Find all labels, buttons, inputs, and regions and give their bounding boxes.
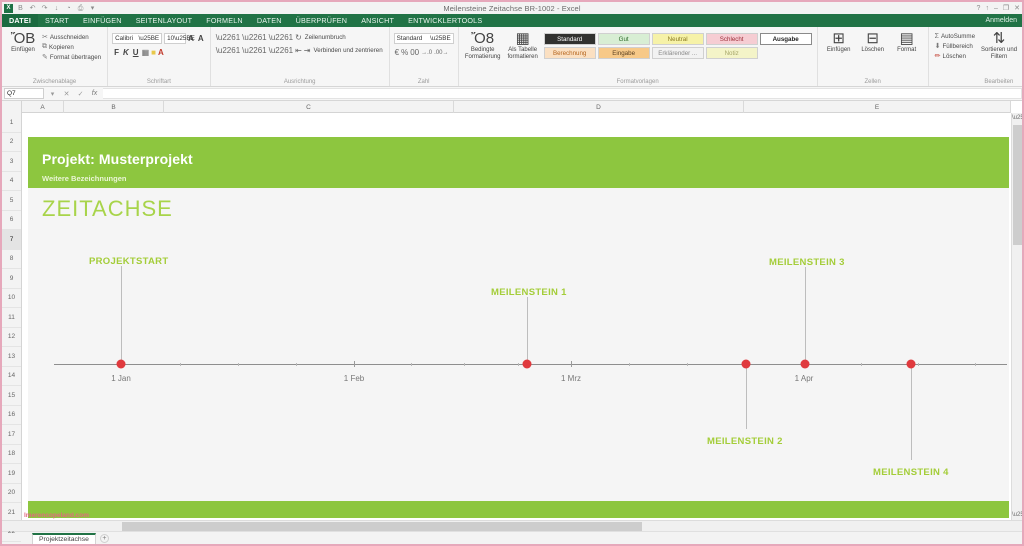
formula-bar: Q7 ▾ ✕ ✓ fx [2,87,1022,101]
row-header-11[interactable]: 11 [2,308,21,328]
milestone-stem [746,365,747,429]
scroll-up-icon[interactable]: \u25B2 [1012,113,1023,123]
close-icon[interactable]: ✕ [1014,4,1020,12]
axis-tick-minor [411,363,412,366]
worksheet-canvas[interactable]: Projekt: Musterprojekt Weitere Bezeichnu… [22,113,1011,520]
window-controls[interactable]: ? ↑ – ❐ ✕ [977,2,1020,14]
axis-label-feb: 1 Feb [344,374,364,383]
axis-tick-major [571,361,572,367]
add-sheet-button[interactable]: + [100,534,109,543]
vertical-scrollbar[interactable]: \u25B2 \u25BC [1011,113,1022,520]
comma-style-icon[interactable]: 00 [409,48,420,57]
font-group-title: Schriftart [108,79,210,85]
align-center-icon[interactable]: \u2261 [241,46,267,55]
insert-function-icon[interactable]: fx [89,90,100,97]
row-header-5[interactable]: 5 [2,191,21,211]
style-tile-gut[interactable]: Gut [598,33,650,45]
axis-tick-minor [975,363,976,366]
milestone-label-projektstart: PROJEKTSTART [89,256,168,267]
align-bottom-icon[interactable]: \u2261 [268,33,294,42]
format-painter-button[interactable]: ✎ Format übertragen [40,52,103,62]
paintbrush-icon: ✎ [42,53,48,61]
orientation-icon[interactable]: ↻ [294,33,303,42]
milestone-marker[interactable] [117,360,126,369]
ribbon-options-icon[interactable]: ↑ [985,5,989,12]
table-icon: ▦ [516,31,530,47]
number-group-title: Zahl [390,79,458,85]
ribbon-group-clipboard: ὌB Einfügen ✂ Ausschneiden ⧉ Kopieren ✎ … [2,27,108,86]
ribbon: ὌB Einfügen ✂ Ausschneiden ⧉ Kopieren ✎ … [2,27,1022,87]
grid-area: A B C D E 1 2 3 4 5 6 7 8 9 10 11 12 13 … [2,101,1022,520]
cut-label: Ausschneiden [50,34,89,41]
ribbon-tab-bar[interactable]: DATEI START EINFÜGEN SEITENLAYOUT FORMEL… [2,14,1022,27]
number-format-select[interactable]: Standard \u25BE [394,33,454,44]
timeline-canvas: 1 Jan 1 Feb 1 Mrz 1 Apr 1 [28,226,1009,481]
milestone-label-2: MEILENSTEIN 2 [707,436,783,447]
cells-group-title: Zellen [818,79,928,85]
delete-cells-icon: ⊟ [866,31,879,47]
milestone-stem [527,297,528,364]
style-tile-notiz[interactable]: Notiz [706,47,758,59]
vertical-scroll-thumb[interactable] [1013,125,1022,245]
milestone-label-4: MEILENSTEIN 4 [873,467,949,478]
column-header-b[interactable]: B [64,101,164,113]
milestone-stem [805,267,806,364]
editing-group-title: Bearbeiten [929,79,1024,85]
axis-tick-minor [918,363,919,366]
row-header-4[interactable]: 4 [2,172,21,192]
timeline-footer-banner [28,501,1009,518]
format-as-table-label: Als Tabelle formatieren [503,47,543,61]
tabbar-spacer [489,14,985,27]
row-header-2[interactable]: 2 [2,133,21,153]
style-tile-berechnung[interactable]: Berechnung [544,47,596,59]
row-header-7[interactable]: 7 [2,230,21,250]
wrap-text-label: Zeilenumbruch [305,34,346,41]
watermark-text: lmerencopeland.com [24,512,89,519]
axis-label-apr: 1 Apr [795,374,814,383]
fill-label: Füllbereich [943,43,973,50]
font-size-value: 10 [167,35,174,42]
restore-icon[interactable]: ❐ [1003,4,1009,12]
increase-indent-icon[interactable]: ⇥ [303,46,312,55]
insert-cells-icon: ⊞ [832,31,845,47]
tab-formeln[interactable]: FORMELN [199,14,250,27]
cancel-entry-icon[interactable]: ✕ [61,90,72,98]
axis-tick-minor [296,363,297,366]
italic-button[interactable]: K [121,48,131,57]
chevron-down-icon[interactable]: \u25BE [430,35,451,42]
excel-window: X ὚B ↶ ↷ ↓ ◔ ⎙ ▾ Meilensteine Zeitachse … [0,0,1024,546]
align-middle-icon[interactable]: \u2261 [241,33,267,42]
delete-cells-button[interactable]: ⊟ Löschen [856,29,890,54]
format-cells-icon: ▤ [900,31,914,47]
column-header-c[interactable]: C [164,101,454,113]
horizontal-scroll-thumb[interactable] [122,522,642,531]
copy-label: Kopieren [49,44,74,51]
column-header-a[interactable]: A [22,101,64,113]
timeline-heading: ZEITACHSE [42,196,1009,222]
style-tile-schlecht[interactable]: Schlecht [706,33,758,45]
align-left-icon[interactable]: \u2261 [215,46,241,55]
axis-tick-minor [629,363,630,366]
ribbon-group-editing: Σ AutoSumme ⬇ Füllbereich ✏ Löschen ⇅ So… [929,27,1024,86]
sort-filter-button[interactable]: ⇅ Sortieren und Filtern [977,29,1021,61]
tab-ansicht[interactable]: ANSICHT [354,14,401,27]
row-header-14[interactable]: 14 [2,367,21,387]
axis-tick-minor [180,363,181,366]
insert-cells-button[interactable]: ⊞ Einfügen [822,29,856,54]
scroll-down-icon[interactable]: \u25BC [1012,510,1023,520]
row-header-3[interactable]: 3 [2,152,21,172]
clear-label: Löschen [943,53,966,60]
format-painter-label: Format übertragen [50,54,101,61]
number-format-value: Standard [397,35,423,42]
row-header-18[interactable]: 18 [2,445,21,465]
font-name-value: Calibri [115,35,133,42]
row-header-9[interactable]: 9 [2,269,21,289]
row-header-17[interactable]: 17 [2,425,21,445]
milestone-marker[interactable] [801,360,810,369]
axis-label-mrz: 1 Mrz [561,374,581,383]
axis-tick-minor [687,363,688,366]
row-header-16[interactable]: 16 [2,406,21,426]
bold-button[interactable]: F [112,48,121,57]
milestone-marker[interactable] [907,360,916,369]
paste-button[interactable]: ὌB Einfügen [6,29,40,54]
ribbon-group-styles: Ὄ8 Bedingte Formatierung ▦ Als Tabelle f… [459,27,818,86]
fill-color-icon[interactable]: ■ [150,48,157,57]
project-title: Projekt: Musterprojekt [42,151,995,167]
milestone-stem [121,266,122,364]
select-all-corner[interactable] [2,101,22,113]
font-size-input[interactable]: 10 \u25BE [164,33,186,44]
help-icon[interactable]: ? [977,5,981,12]
eraser-icon: ✏ [935,52,941,60]
column-header-d[interactable]: D [454,101,744,113]
sign-in-button[interactable]: Anmelden [985,14,1022,27]
ribbon-group-alignment: \u2261 \u2261 \u2261 ↻ Zeilenumbruch \u2… [211,27,390,86]
insert-cells-label: Einfügen [827,47,851,54]
chevron-down-icon[interactable]: \u25BE [138,35,159,42]
font-color-icon[interactable]: A [157,48,165,57]
milestone-stem [911,365,912,460]
decrease-indent-icon[interactable]: ⇤ [294,46,303,55]
ribbon-group-number: Standard \u25BE € % 00 →.0 .00→ Zahl [390,27,459,86]
copy-icon: ⧉ [42,43,47,51]
milestone-marker[interactable] [742,360,751,369]
paste-icon: ὌB [11,31,36,47]
clear-button[interactable]: ✏ Löschen [933,51,977,61]
axis-tick-minor [861,363,862,366]
title-bar: X ὚B ↶ ↷ ↓ ◔ ⎙ ▾ Meilensteine Zeitachse … [2,2,1022,14]
conditional-formatting-button[interactable]: Ὄ8 Bedingte Formatierung [463,29,503,61]
autosum-button[interactable]: Σ AutoSumme [933,32,977,41]
sigma-icon: Σ [935,33,939,40]
row-header-8[interactable]: 8 [2,250,21,270]
axis-tick-minor [518,363,519,366]
conditional-formatting-label: Bedingte Formatierung [463,47,503,61]
row-header-6[interactable]: 6 [2,211,21,231]
sheet-tab-bar[interactable]: Projektzeitachse + [2,531,1022,544]
fill-button[interactable]: ⬇ Füllbereich [933,41,977,51]
decrease-decimal-icon[interactable]: .00→ [433,50,449,56]
merge-center-label: Verbinden und zentrieren [314,47,383,54]
shrink-font-button[interactable]: A [196,34,206,43]
tab-entwicklertools[interactable]: ENTWICKLERTOOLS [401,14,489,27]
timeline-header-banner: Projekt: Musterprojekt Weitere Bezeichnu… [28,137,1009,188]
tab-ueberpruefen[interactable]: ÜBERPRÜFEN [289,14,355,27]
row-headers: 1 2 3 4 5 6 7 8 9 10 11 12 13 14 15 16 1… [2,113,22,520]
style-tile-standard[interactable]: Standard [544,33,596,45]
axis-tick-major [354,361,355,367]
font-name-input[interactable]: Calibri \u25BE [112,33,162,44]
clipboard-group-title: Zwischenablage [2,79,107,85]
sheet-tab-projektzeitachse[interactable]: Projektzeitachse [32,533,96,544]
ribbon-group-font: Calibri \u25BE 10 \u25BE A A F K U ▦ ■ [108,27,211,86]
tab-einfuegen[interactable]: EINFÜGEN [76,14,129,27]
format-as-table-button[interactable]: ▦ Als Tabelle formatieren [503,29,543,61]
row-header-10[interactable]: 10 [2,289,21,309]
milestone-label-1: MEILENSTEIN 1 [491,287,567,298]
sort-filter-label: Sortieren und Filtern [977,47,1021,61]
delete-cells-label: Löschen [861,47,884,54]
copy-button[interactable]: ⧉ Kopieren [40,42,103,52]
horizontal-scrollbar[interactable] [2,520,1022,531]
tab-seitenlayout[interactable]: SEITENLAYOUT [129,14,200,27]
autosum-label: AutoSumme [941,33,975,40]
style-tile-ausgabe[interactable]: Ausgabe [760,33,812,45]
styles-group-title: Formatvorlagen [459,79,817,85]
conditional-formatting-icon: Ὄ8 [471,31,494,47]
grow-font-button[interactable]: A [186,34,196,43]
axis-tick-minor [238,363,239,366]
row-header-13[interactable]: 13 [2,347,21,367]
row-header-19[interactable]: 19 [2,464,21,484]
ribbon-group-cells: ⊞ Einfügen ⊟ Löschen ▤ Format Zellen [818,27,929,86]
milestone-marker[interactable] [523,360,532,369]
tab-datei[interactable]: DATEI [2,14,38,27]
row-header-12[interactable]: 12 [2,328,21,348]
tab-start[interactable]: START [38,14,76,27]
wrap-text-button[interactable]: Zeilenumbruch [303,33,348,42]
scissors-icon: ✂ [42,33,48,41]
borders-icon[interactable]: ▦ [141,48,151,57]
row-header-1[interactable]: 1 [2,113,21,133]
window-title: Meilensteine Zeitachse BR-1002 - Excel [2,4,1022,13]
name-box[interactable]: Q7 [4,88,44,99]
name-box-chevron-down-icon[interactable]: ▾ [47,90,58,98]
format-cells-button[interactable]: ▤ Format [890,29,924,54]
axis-tick-minor [464,363,465,366]
milestone-label-3: MEILENSTEIN 3 [769,257,845,268]
increase-decimal-icon[interactable]: →.0 [420,50,433,56]
fill-icon: ⬇ [935,42,941,50]
merge-center-button[interactable]: Verbinden und zentrieren [312,46,385,55]
align-right-icon[interactable]: \u2261 [268,46,294,55]
format-cells-label: Format [897,47,916,54]
row-header-20[interactable]: 20 [2,484,21,504]
style-tile-neutral[interactable]: Neutral [652,33,704,45]
alignment-group-title: Ausrichtung [211,79,389,85]
column-header-e[interactable]: E [744,101,1011,113]
tab-daten[interactable]: DATEN [250,14,289,27]
minimize-icon[interactable]: – [994,5,998,12]
axis-label-jan: 1 Jan [111,374,131,383]
style-tile-eingabe[interactable]: Eingabe [598,47,650,59]
confirm-entry-icon[interactable]: ✓ [75,90,86,98]
timeline-graphic: Projekt: Musterprojekt Weitere Bezeichnu… [28,137,1009,518]
row-header-15[interactable]: 15 [2,386,21,406]
align-top-icon[interactable]: \u2261 [215,33,241,42]
project-subtitle: Weitere Bezeichnungen [42,174,995,183]
column-headers: A B C D E [2,101,1011,113]
underline-button[interactable]: U [131,48,141,57]
formula-input[interactable] [103,88,1022,99]
cut-button[interactable]: ✂ Ausschneiden [40,32,103,42]
sort-filter-icon: ⇅ [993,31,1006,47]
paste-label: Einfügen [11,47,35,54]
style-tile-erklaerender[interactable]: Erklärender ... [652,47,704,59]
percent-icon[interactable]: % [400,48,409,57]
